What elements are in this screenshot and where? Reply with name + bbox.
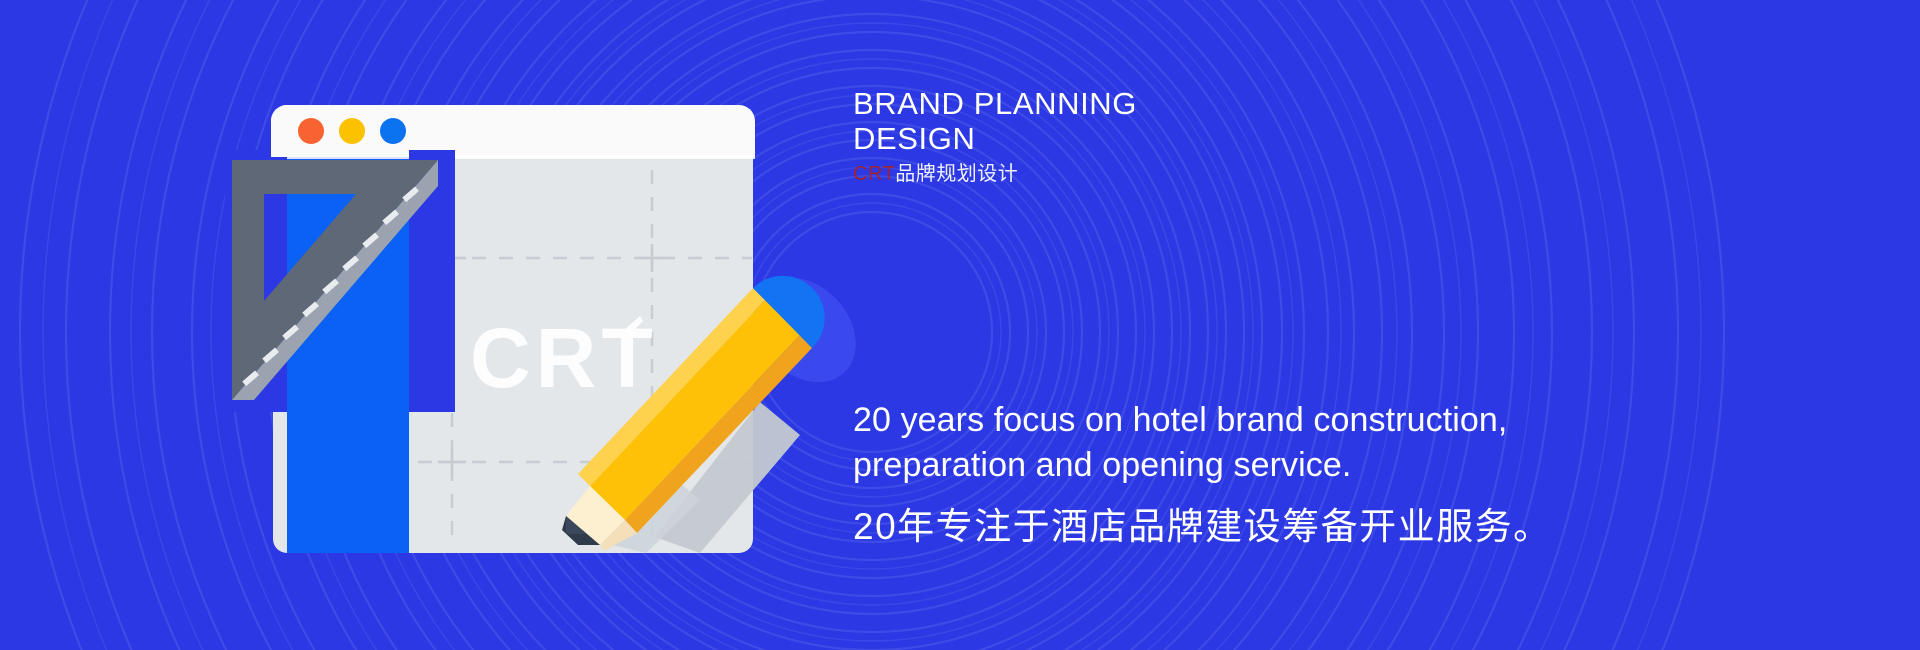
eyebrow-chinese: CRT品牌规划设计	[853, 162, 1473, 186]
banner-copy: BRAND PLANNING DESIGN CRT品牌规划设计 20 years…	[853, 0, 1853, 650]
ruler-final	[225, 105, 455, 412]
lead-statement: 20 years focus on hotel brand constructi…	[853, 398, 1803, 550]
eyebrow-english: BRAND PLANNING DESIGN	[853, 86, 1473, 156]
document-crt-logo: CRT	[470, 311, 658, 405]
lead-chinese: 20年专注于酒店品牌建设筹备开业服务。	[853, 504, 1803, 550]
lead-english: 20 years focus on hotel brand constructi…	[853, 398, 1803, 488]
brand-mark: CRT	[853, 163, 895, 185]
svg-text:CRT: CRT	[470, 311, 658, 405]
brand-banner: CRT	[0, 0, 1920, 650]
eyebrow-chinese-text: 品牌规划设计	[895, 163, 1018, 185]
eyebrow-heading: BRAND PLANNING DESIGN CRT品牌规划设计	[853, 86, 1473, 186]
design-illustration: CRT	[0, 0, 900, 650]
